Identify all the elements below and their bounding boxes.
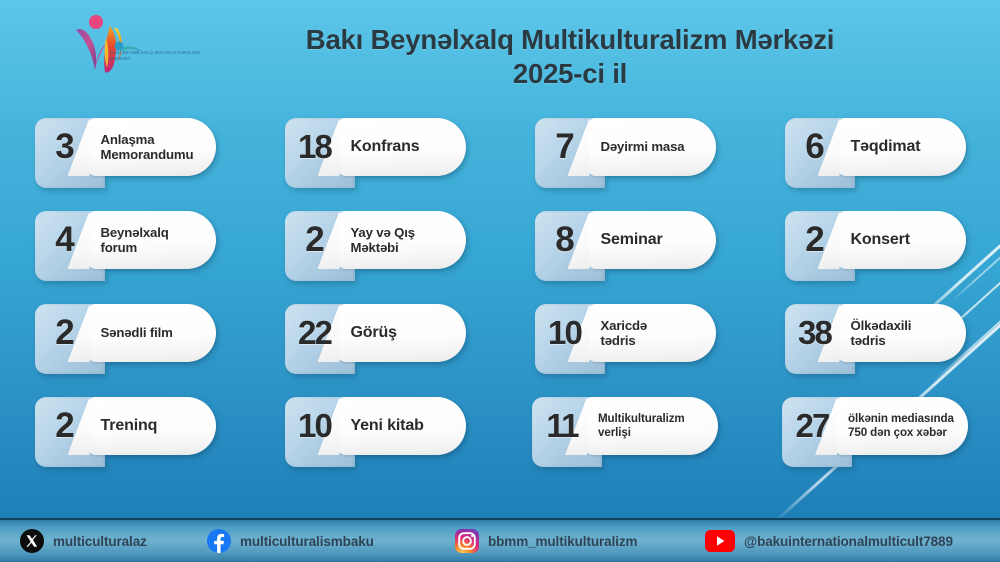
instagram-icon (455, 529, 479, 553)
stat-number: 22 (285, 304, 345, 362)
social-link-x-twitter[interactable]: multiculturalaz (20, 529, 147, 553)
stat-card[interactable]: Yeni kitab10 (285, 397, 466, 455)
stat-card[interactable]: ölkənin mediasında750 dən çox xəbər27 (782, 397, 968, 455)
stat-number: 2 (785, 211, 845, 269)
logo-caption: BAKI BEYNƏLXALQ MULTIKULTURALIZM MƏRKƏZİ (110, 50, 206, 62)
stat-label: Beynəlxalqforum (87, 225, 177, 256)
stat-number: 18 (285, 118, 345, 176)
stat-number: 7 (535, 118, 595, 176)
stat-label-pill: Ölkədaxilitədris (837, 304, 966, 362)
stat-number: 10 (285, 397, 345, 455)
stat-label-pill: Xaricdətədris (587, 304, 716, 362)
stat-cell: Sənədli film2 (0, 304, 250, 397)
stat-label: ölkənin mediasında750 dən çox xəbər (834, 412, 962, 441)
stat-cell: Multikulturalizmverlişi11 (500, 397, 750, 490)
stat-label-pill: Treninq (87, 397, 216, 455)
social-handle: @bakuinternationalmulticult7889 (744, 534, 953, 549)
stat-cell: Seminar8 (500, 211, 750, 304)
title-line-2: 2025-ci il (220, 56, 920, 92)
stat-card[interactable]: Seminar8 (535, 211, 716, 269)
stat-label-pill: Konsert (837, 211, 966, 269)
social-footer: multiculturalaz multiculturalismbaku (0, 518, 1000, 562)
stat-label: Xaricdətədris (587, 318, 656, 349)
stats-row: Sənədli film2Görüş22Xaricdətədris10Ölkəd… (0, 304, 1000, 397)
stat-cell: Konfrans18 (250, 118, 500, 211)
stat-label: Təqdimat (837, 138, 929, 157)
stat-number: 38 (785, 304, 845, 362)
stat-label-pill: AnlaşmaMemorandumu (87, 118, 216, 176)
stat-label-pill: Konfrans (337, 118, 466, 176)
facebook-icon (207, 529, 231, 553)
stat-label-pill: Təqdimat (837, 118, 966, 176)
stat-cell: ölkənin mediasında750 dən çox xəbər27 (750, 397, 1000, 490)
stat-label: Yeni kitab (337, 417, 432, 436)
stat-label: Seminar (587, 231, 671, 250)
stat-label-pill: Görüş (337, 304, 466, 362)
page-title: Bakı Beynəlxalq Multikulturalizm Mərkəzi… (220, 24, 920, 92)
x-twitter-icon (20, 529, 44, 553)
stat-card[interactable]: AnlaşmaMemorandumu3 (35, 118, 216, 176)
stat-number: 27 (782, 397, 842, 455)
stat-label-pill: Dəyirmi masa (587, 118, 716, 176)
stat-label: Treninq (87, 417, 166, 436)
title-line-1: Bakı Beynəlxalq Multikulturalizm Mərkəzi (220, 24, 920, 56)
stat-card[interactable]: Xaricdətədris10 (535, 304, 716, 362)
stat-cell: Təqdimat6 (750, 118, 1000, 211)
stat-number: 8 (535, 211, 595, 269)
stats-row: AnlaşmaMemorandumu3Konfrans18Dəyirmi mas… (0, 118, 1000, 211)
stat-label-pill: Sənədli film (87, 304, 216, 362)
stat-cell: Konsert2 (750, 211, 1000, 304)
stat-number: 4 (35, 211, 95, 269)
stat-card[interactable]: Təqdimat6 (785, 118, 966, 176)
social-link-facebook[interactable]: multiculturalismbaku (207, 529, 374, 553)
stat-card[interactable]: Konfrans18 (285, 118, 466, 176)
social-link-instagram[interactable]: bbmm_multikulturalizm (455, 529, 637, 553)
social-handle: bbmm_multikulturalizm (488, 534, 637, 549)
stat-card[interactable]: Beynəlxalqforum4 (35, 211, 216, 269)
stat-card[interactable]: Konsert2 (785, 211, 966, 269)
stat-cell: Treninq2 (0, 397, 250, 490)
youtube-icon (705, 530, 735, 552)
stat-number: 2 (35, 397, 95, 455)
stats-row: Beynəlxalqforum4Yay və QışMəktəbi2Semina… (0, 211, 1000, 304)
stats-grid: AnlaşmaMemorandumu3Konfrans18Dəyirmi mas… (0, 118, 1000, 490)
stat-number: 2 (285, 211, 345, 269)
stat-label: Konfrans (337, 138, 428, 157)
infographic-poster: BAKI BEYNƏLXALQ MULTIKULTURALIZM MƏRKƏZİ… (0, 0, 1000, 562)
stat-number: 11 (532, 397, 592, 455)
stat-label: Dəyirmi masa (587, 139, 693, 154)
stat-cell: Xaricdətədris10 (500, 304, 750, 397)
stat-card[interactable]: Multikulturalizmverlişi11 (532, 397, 718, 455)
social-link-youtube[interactable]: @bakuinternationalmulticult7889 (705, 530, 953, 552)
stat-label: Yay və QışMəktəbi (337, 225, 424, 256)
stat-card[interactable]: Sənədli film2 (35, 304, 216, 362)
stat-label: Ölkədaxilitədris (837, 318, 920, 349)
stat-card[interactable]: Ölkədaxilitədris38 (785, 304, 966, 362)
stat-number: 10 (535, 304, 595, 362)
stat-label-pill: Seminar (587, 211, 716, 269)
stat-cell: Ölkədaxilitədris38 (750, 304, 1000, 397)
stat-label: Multikulturalizmverlişi (584, 412, 693, 441)
stat-label-pill: Multikulturalizmverlişi (584, 397, 718, 455)
stat-card[interactable]: Dəyirmi masa7 (535, 118, 716, 176)
stat-cell: Beynəlxalqforum4 (0, 211, 250, 304)
social-handle: multiculturalismbaku (240, 534, 374, 549)
stat-card[interactable]: Yay və QışMəktəbi2 (285, 211, 466, 269)
social-handle: multiculturalaz (53, 534, 147, 549)
bbmm-logo: BAKI BEYNƏLXALQ MULTIKULTURALIZM MƏRKƏZİ (62, 8, 207, 86)
stat-cell: Dəyirmi masa7 (500, 118, 750, 211)
stat-cell: Görüş22 (250, 304, 500, 397)
stat-cell: Yeni kitab10 (250, 397, 500, 490)
stat-number: 2 (35, 304, 95, 362)
stat-label-pill: Yeni kitab (337, 397, 466, 455)
stat-card[interactable]: Görüş22 (285, 304, 466, 362)
poster-header: BAKI BEYNƏLXALQ MULTIKULTURALIZM MƏRKƏZİ… (0, 0, 1000, 112)
stat-card[interactable]: Treninq2 (35, 397, 216, 455)
stat-label-pill: Beynəlxalqforum (87, 211, 216, 269)
stat-cell: AnlaşmaMemorandumu3 (0, 118, 250, 211)
stat-label: Sənədli film (87, 325, 181, 340)
stat-number: 3 (35, 118, 95, 176)
stats-row: Treninq2Yeni kitab10Multikulturalizmverl… (0, 397, 1000, 490)
stat-label-pill: ölkənin mediasında750 dən çox xəbər (834, 397, 968, 455)
stat-label-pill: Yay və QışMəktəbi (337, 211, 466, 269)
stat-label: Konsert (837, 231, 918, 250)
stat-cell: Yay və QışMəktəbi2 (250, 211, 500, 304)
stat-number: 6 (785, 118, 845, 176)
stat-label: AnlaşmaMemorandumu (87, 132, 202, 163)
stat-label: Görüş (337, 324, 405, 343)
